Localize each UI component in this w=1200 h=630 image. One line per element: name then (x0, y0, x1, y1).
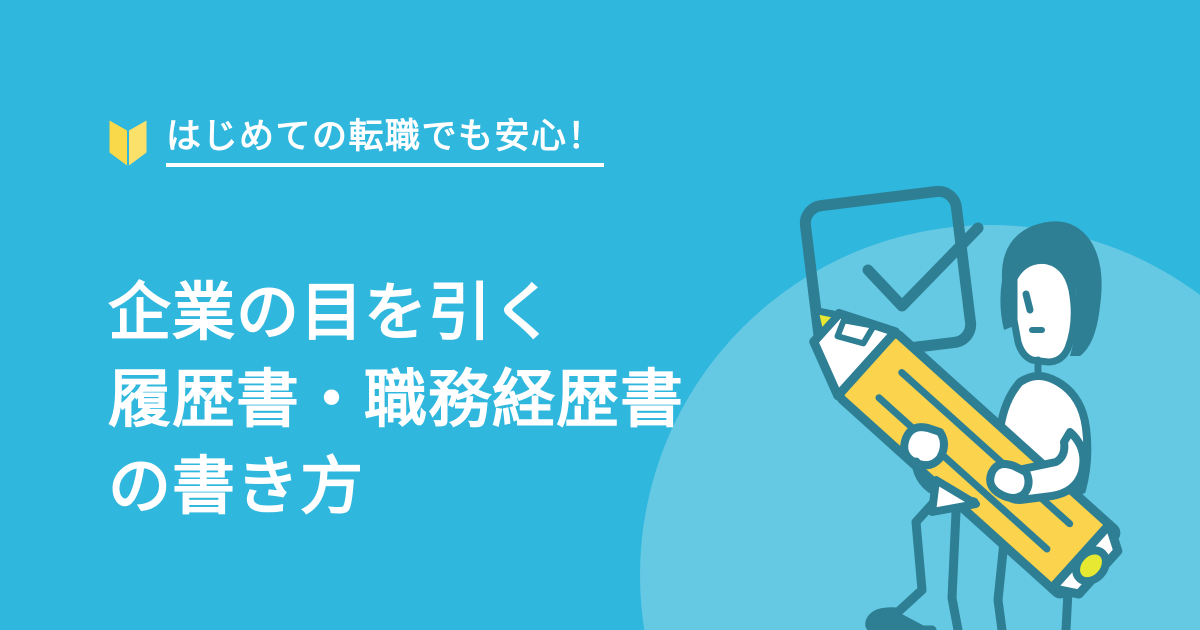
eyebrow-underline-wrap: はじめての転職でも安心！ (166, 119, 604, 168)
headline-line-3: の書き方 (108, 444, 684, 531)
shoshinsha-beginner-mark-icon (108, 119, 148, 167)
eyebrow-row: はじめての転職でも安心！ (108, 110, 604, 176)
page-title: 企業の目を引く 履歴書・職務経歴書 の書き方 (108, 270, 684, 531)
content-column: はじめての転職でも安心！ 企業の目を引く 履歴書・職務経歴書 の書き方 (108, 0, 828, 630)
banner-root: はじめての転職でも安心！ 企業の目を引く 履歴書・職務経歴書 の書き方 (0, 0, 1200, 630)
eyebrow-label: はじめての転職でも安心！ (166, 119, 604, 156)
headline-line-2: 履歴書・職務経歴書 (108, 357, 684, 444)
hero-illustration (770, 160, 1200, 630)
headline-line-1: 企業の目を引く (108, 270, 684, 357)
